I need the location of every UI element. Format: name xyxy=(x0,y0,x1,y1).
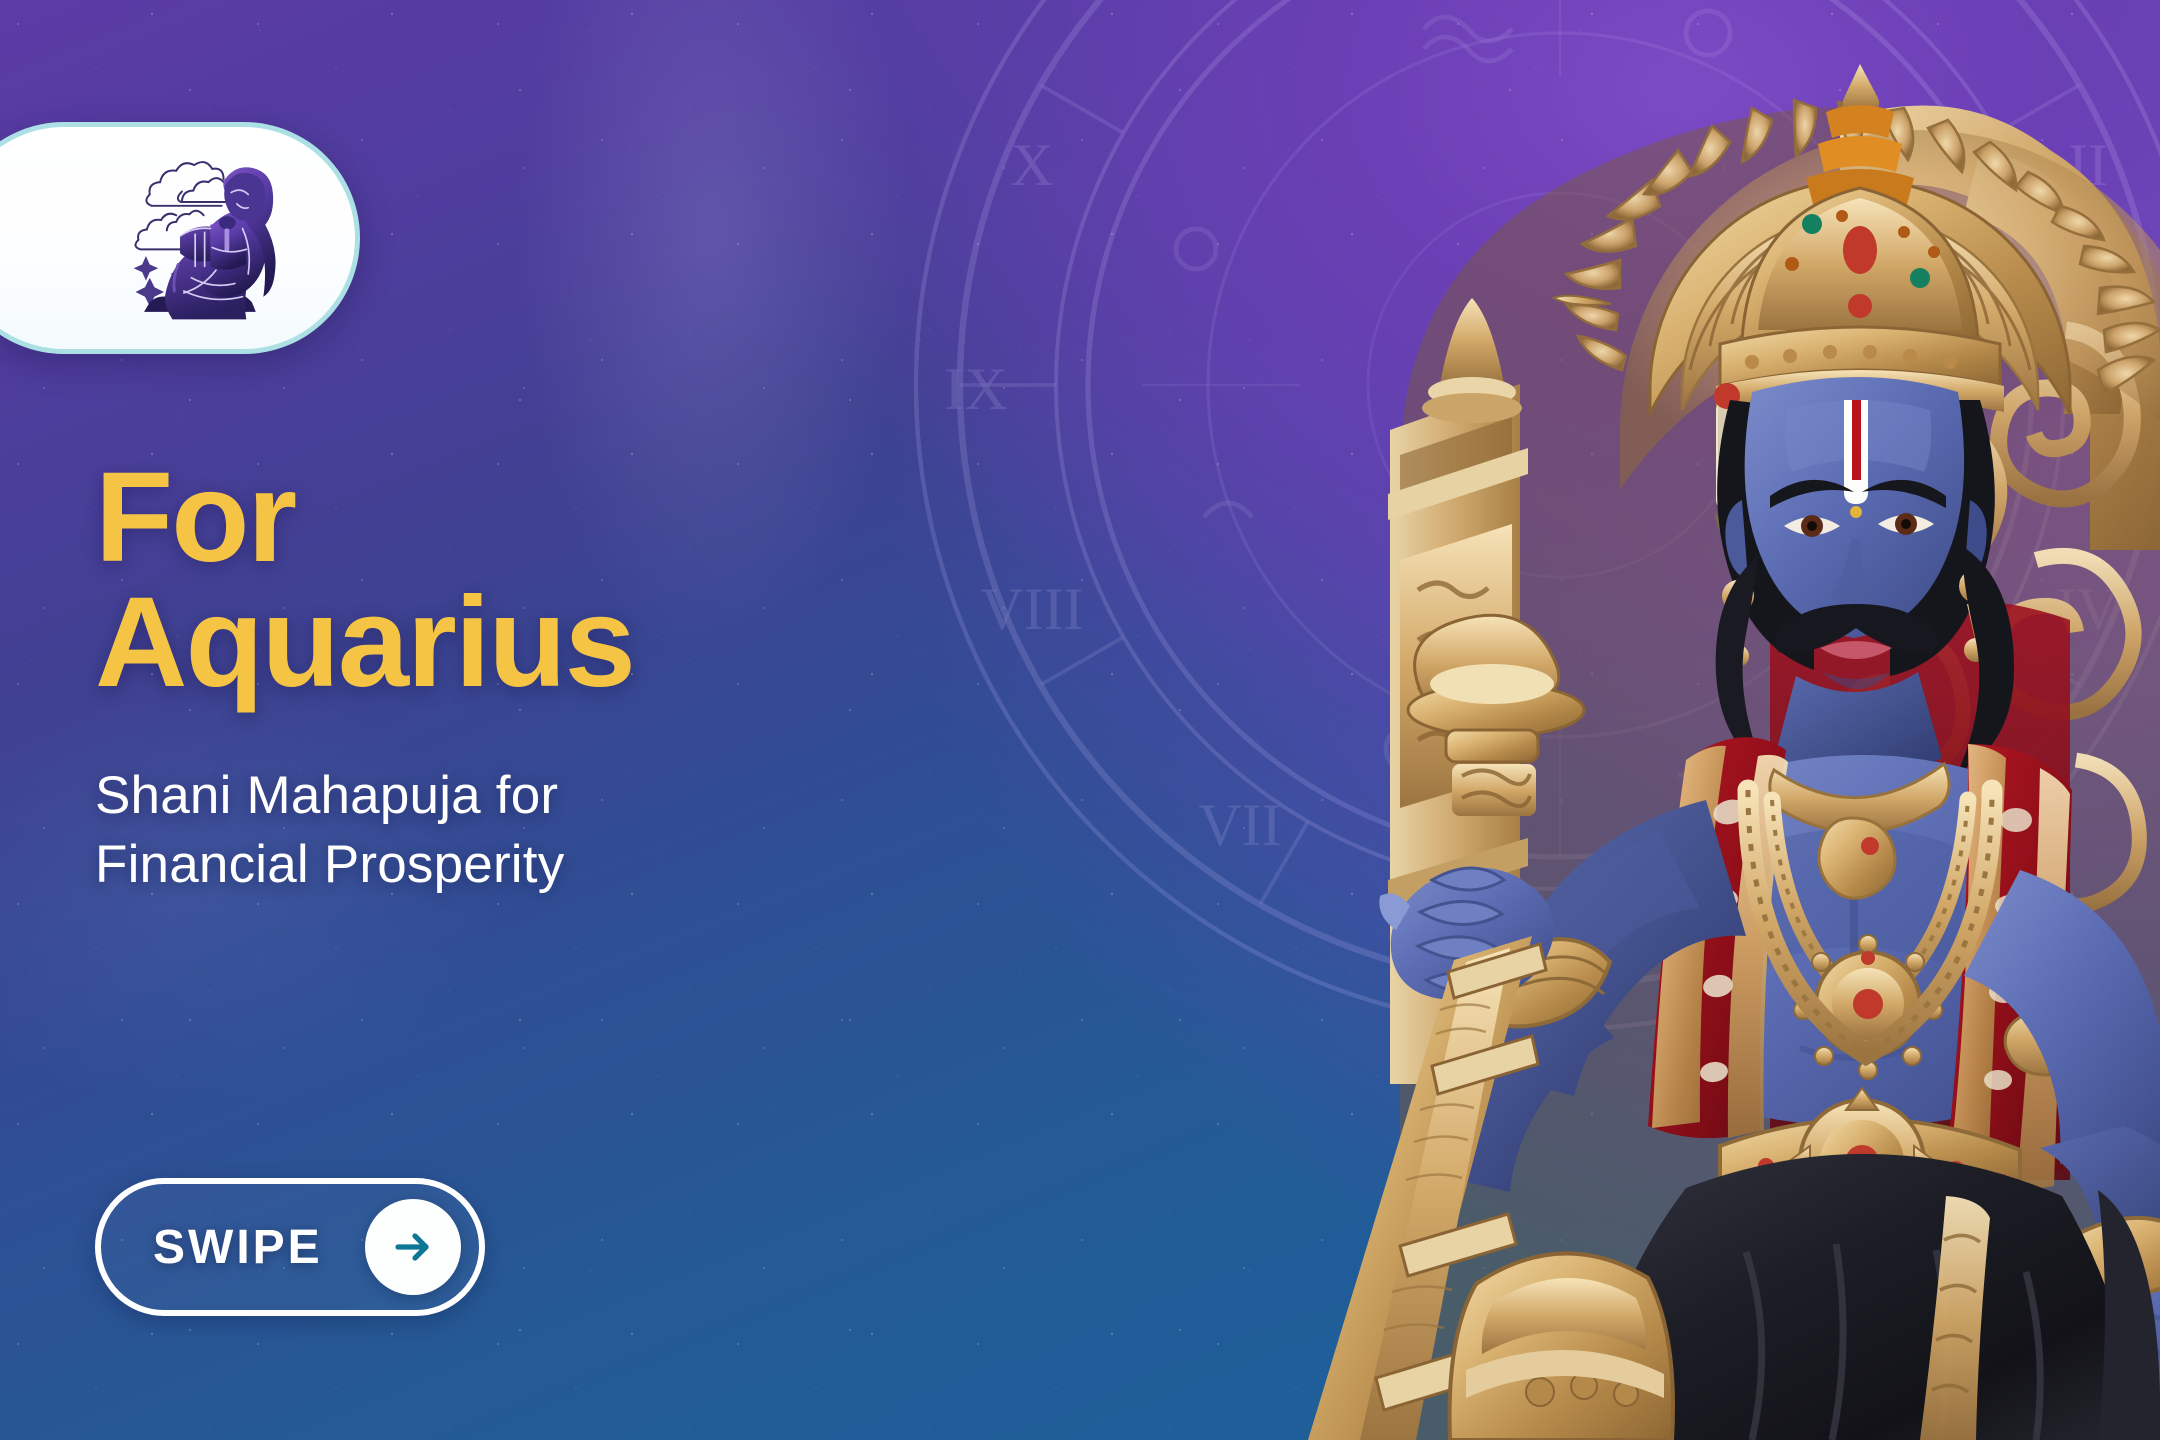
arrow-right-icon xyxy=(386,1220,440,1274)
page-title: For Aquarius xyxy=(95,455,965,706)
swipe-button[interactable]: SWIPE xyxy=(95,1178,485,1316)
title-line-2: Aquarius xyxy=(95,580,965,705)
copy-block: For Aquarius Shani Mahapuja for Financia… xyxy=(95,455,965,900)
zodiac-badge[interactable] xyxy=(0,122,360,354)
promo-card: XII I II III IV V VI VII VIII IX X XI xyxy=(0,0,2160,1440)
subtitle-line-1: Shani Mahapuja for xyxy=(95,762,735,831)
throne-base xyxy=(1450,1253,1673,1440)
subtitle-line-2: Financial Prosperity xyxy=(95,831,735,900)
aquarius-water-bearer-icon xyxy=(121,149,311,327)
lord-shani-illustration xyxy=(840,0,2160,1440)
title-line-1: For xyxy=(95,455,965,580)
swipe-arrow-circle[interactable] xyxy=(365,1199,461,1295)
swipe-label: SWIPE xyxy=(153,1220,323,1275)
page-subtitle: Shani Mahapuja for Financial Prosperity xyxy=(95,762,735,900)
